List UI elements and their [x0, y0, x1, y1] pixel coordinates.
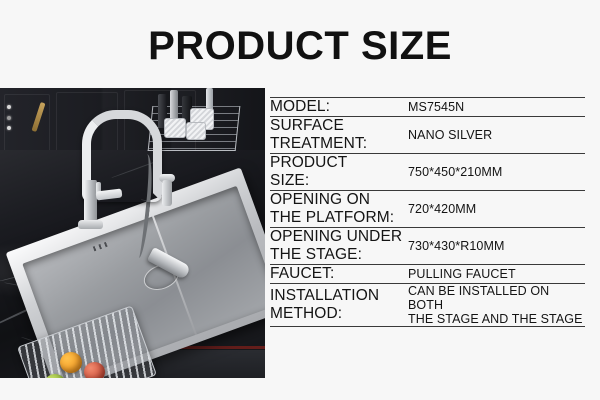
- spec-value-faucet: PULLING FAUCET: [408, 265, 585, 284]
- spec-label-surface-treatment: SURFACE TREATMENT:: [270, 117, 408, 154]
- spec-label-opening-on-platform: OPENING ON THE PLATFORM:: [270, 191, 408, 228]
- cabinet-knob: [7, 116, 11, 120]
- page-title: PRODUCT SIZE: [0, 18, 600, 74]
- spec-label-faucet: FAUCET:: [270, 265, 408, 284]
- spec-label-opening-under-stage: OPENING UNDER THE STAGE:: [270, 228, 408, 265]
- spec-label-installation-method: INSTALLATION METHOD:: [270, 284, 408, 327]
- specification-table: MODEL: MS7545N SURFACE TREATMENT: NANO S…: [270, 97, 585, 327]
- spec-label-model: MODEL:: [270, 98, 408, 117]
- faucet-base: [78, 220, 103, 229]
- soap-dispenser-pump: [162, 180, 172, 206]
- spec-value-installation-method: CAN BE INSTALLED ON BOTH THE STAGE AND T…: [408, 284, 585, 327]
- spec-label-product-size: PRODUCT SIZE:: [270, 154, 408, 191]
- spec-value-surface-treatment: NANO SILVER: [408, 117, 585, 154]
- spec-value-model: MS7545N: [408, 98, 585, 117]
- product-photo: [0, 88, 265, 378]
- table-row: OPENING ON THE PLATFORM: 720*420MM: [270, 191, 585, 228]
- spec-value-opening-under-stage: 730*430*R10MM: [408, 228, 585, 265]
- storage-jar: [186, 122, 206, 140]
- spec-value-opening-on-platform: 720*420MM: [408, 191, 585, 228]
- spec-value-product-size: 750*450*210MM: [408, 154, 585, 191]
- cabinet-knob: [7, 105, 11, 109]
- table-row: PRODUCT SIZE: 750*450*210MM: [270, 154, 585, 191]
- lower-cabinet: [150, 350, 265, 378]
- table-row: INSTALLATION METHOD: CAN BE INSTALLED ON…: [270, 284, 585, 327]
- red-apple-fruit: [84, 362, 105, 378]
- table-row: FAUCET: PULLING FAUCET: [270, 265, 585, 284]
- storage-jar: [164, 118, 186, 138]
- table-row: SURFACE TREATMENT: NANO SILVER: [270, 117, 585, 154]
- table-row: MODEL: MS7545N: [270, 98, 585, 117]
- cabinet-knob: [7, 126, 11, 130]
- orange-fruit: [60, 352, 82, 373]
- table-row: OPENING UNDER THE STAGE: 730*430*R10MM: [270, 228, 585, 265]
